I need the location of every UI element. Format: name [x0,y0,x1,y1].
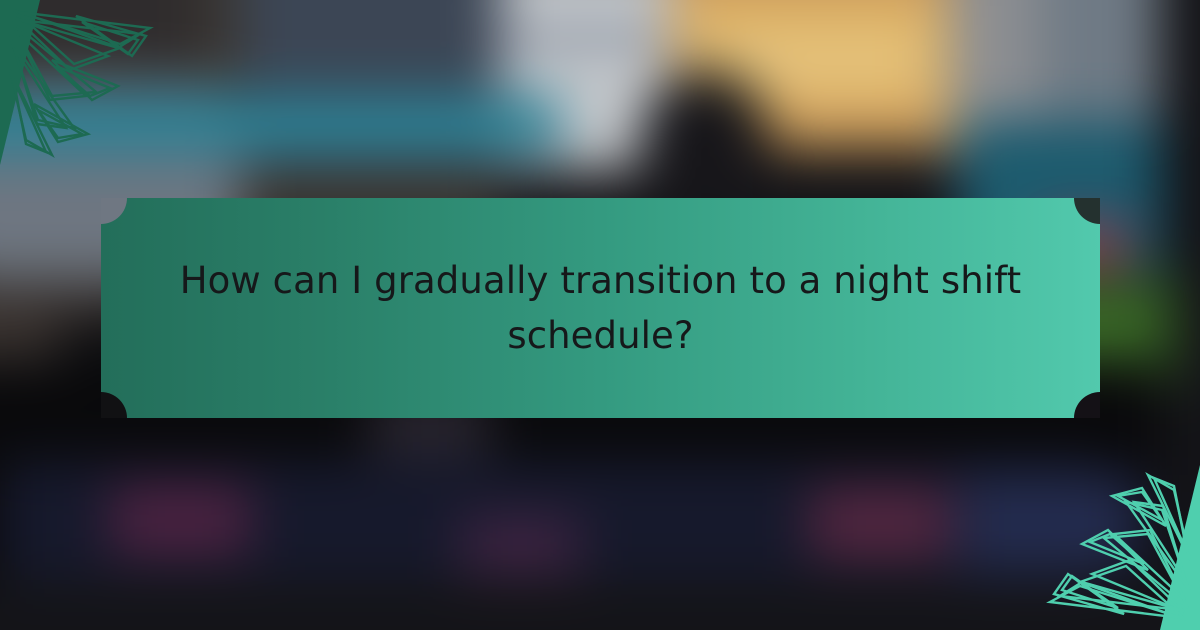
question-text-content: How can I gradually transition to a nigh… [161,253,1040,363]
bg-shape-silhouette [640,70,770,210]
bg-shape-magenta-3 [810,488,950,558]
bg-shape-blue-bottom [960,475,1140,570]
quote-card: How can I gradually transition to a nigh… [0,0,1200,630]
bg-shape-magenta-2 [460,515,580,575]
bg-shape-magenta-1 [110,485,250,555]
bg-shape-teal-band [0,95,560,155]
question-text: How can I gradually transition to a nigh… [101,198,1100,418]
